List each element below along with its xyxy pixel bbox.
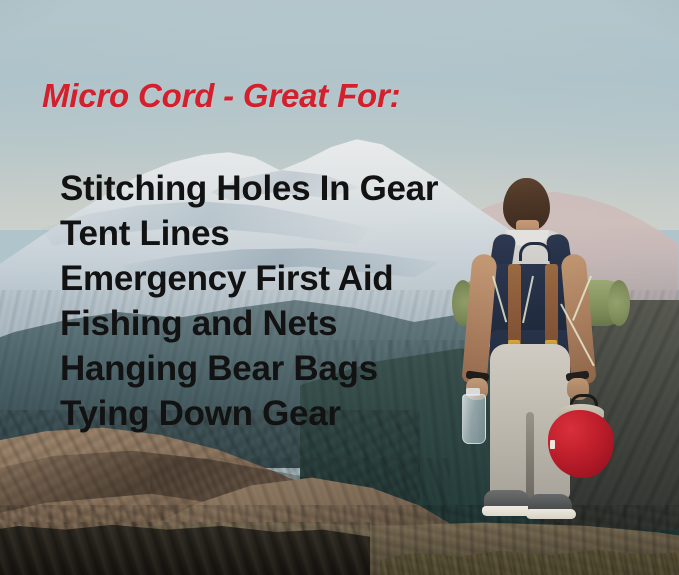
- use-case-list: Stitching Holes In Gear Tent Lines Emerg…: [60, 166, 438, 436]
- hiker-figure: [440, 172, 650, 575]
- list-item: Tying Down Gear: [60, 391, 438, 436]
- sweatpants-leg-gap: [526, 412, 534, 500]
- list-item: Emergency First Aid: [60, 256, 438, 301]
- list-item: Tent Lines: [60, 211, 438, 256]
- product-feature-poster: Micro Cord - Great For: Stitching Holes …: [0, 0, 679, 575]
- stuff-sack-tag: [550, 440, 555, 449]
- water-bottle: [462, 394, 486, 444]
- backpack-grab-handle: [519, 242, 551, 261]
- list-item: Stitching Holes In Gear: [60, 166, 438, 211]
- page-title: Micro Cord - Great For:: [42, 77, 400, 115]
- dark-rubble-texture: [0, 522, 370, 575]
- list-item: Hanging Bear Bags: [60, 346, 438, 391]
- list-item: Fishing and Nets: [60, 301, 438, 346]
- red-stuff-sack: [548, 410, 614, 478]
- sleeping-mat-right-end: [608, 280, 630, 326]
- right-shoe-sole: [526, 509, 576, 519]
